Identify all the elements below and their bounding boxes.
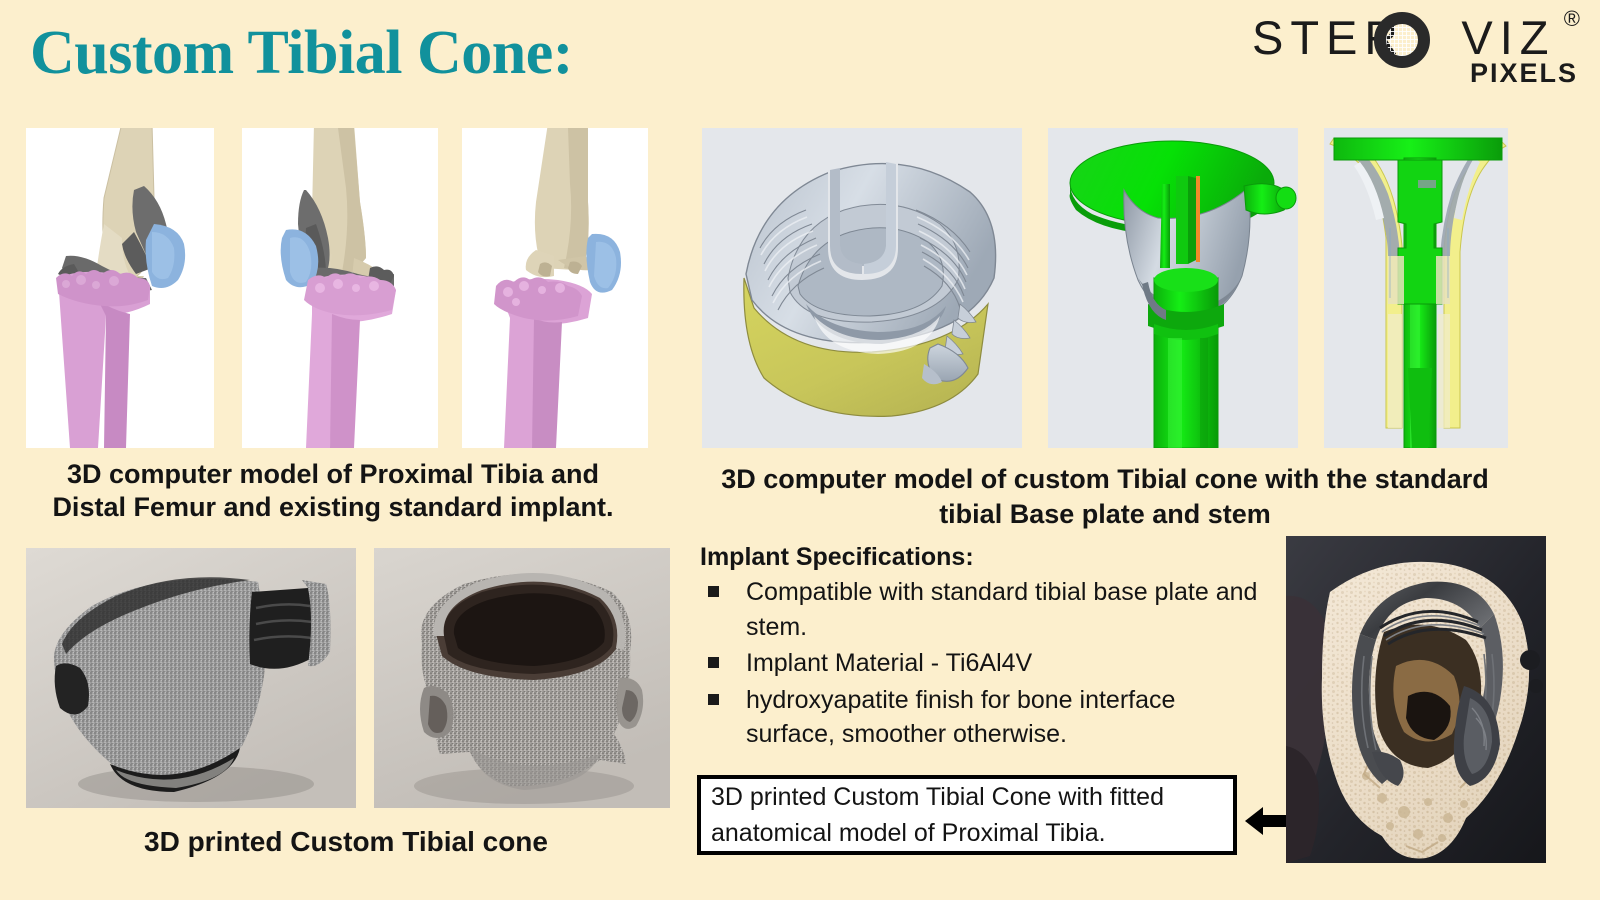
spec-bullet-3-text: hydroxyapatite finish for bone interface… <box>746 686 1175 749</box>
bone-view-3-graphic <box>462 128 648 448</box>
bone-view-2 <box>242 128 438 448</box>
cad-cone-with-baseplate <box>1048 128 1298 448</box>
cad-cone-graphic <box>702 128 1022 448</box>
left-arrow-icon <box>1245 805 1289 837</box>
printed-cone-photo-1-graphic <box>26 548 356 808</box>
spec-list: Compatible with standard tibial base pla… <box>700 575 1260 752</box>
spec-bullet-1-text: Compatible with standard tibial base pla… <box>746 578 1257 641</box>
cad-cross-section <box>1324 128 1508 448</box>
callout-text: 3D printed Custom Tibial Cone with fitte… <box>711 779 1223 852</box>
printed-cone-photo-2 <box>374 548 670 808</box>
callout-box: 3D printed Custom Tibial Cone with fitte… <box>697 775 1237 855</box>
cad-caption-line2: tibial Base plate and stem <box>690 497 1520 532</box>
cad-crosssection-graphic <box>1324 128 1508 448</box>
bone-caption: 3D computer model of Proximal Tibia and … <box>10 458 656 524</box>
cad-baseplate-graphic <box>1048 128 1298 448</box>
implant-specifications: Implant Specifications: Compatible with … <box>700 543 1260 754</box>
bone-view-1 <box>26 128 214 448</box>
bone-view-3 <box>462 128 648 448</box>
registered-mark: ® <box>1564 6 1580 32</box>
bone-view-1-graphic <box>26 128 214 448</box>
steroviz-logo: STERVIZ ® PIXELS <box>1252 6 1582 94</box>
spec-bullet-3: hydroxyapatite finish for bone interface… <box>700 683 1260 752</box>
fitted-model-photo-graphic <box>1286 536 1546 863</box>
printed-caption: 3D printed Custom Tibial cone <box>10 826 682 858</box>
cad-cone <box>702 128 1022 448</box>
spec-bullet-2: Implant Material - Ti6Al4V <box>700 646 1260 681</box>
cad-caption: 3D computer model of custom Tibial cone … <box>690 462 1520 532</box>
logo-subword: PIXELS <box>1470 58 1578 89</box>
slide-root: Custom Tibial Cone: STERVIZ ® PIXELS <box>0 0 1600 900</box>
page-title: Custom Tibial Cone: <box>30 22 573 84</box>
cad-caption-line1: 3D computer model of custom Tibial cone … <box>690 462 1520 497</box>
spec-bullet-2-text: Implant Material - Ti6Al4V <box>746 649 1032 677</box>
bullet-square-icon <box>708 657 719 668</box>
mesh-ring-icon <box>1374 12 1430 68</box>
printed-cone-photo-1 <box>26 548 356 808</box>
logo-word-post: VIZ <box>1461 10 1555 65</box>
bone-caption-line2: Distal Femur and existing standard impla… <box>10 491 656 524</box>
fitted-model-photo <box>1286 536 1546 863</box>
bullet-square-icon <box>708 694 719 705</box>
bullet-square-icon <box>708 586 719 597</box>
bone-view-2-graphic <box>242 128 438 448</box>
spec-bullet-1: Compatible with standard tibial base pla… <box>700 575 1260 644</box>
bone-caption-line1: 3D computer model of Proximal Tibia and <box>10 458 656 491</box>
printed-cone-photo-2-graphic <box>374 548 670 808</box>
spec-heading: Implant Specifications: <box>700 543 1260 572</box>
